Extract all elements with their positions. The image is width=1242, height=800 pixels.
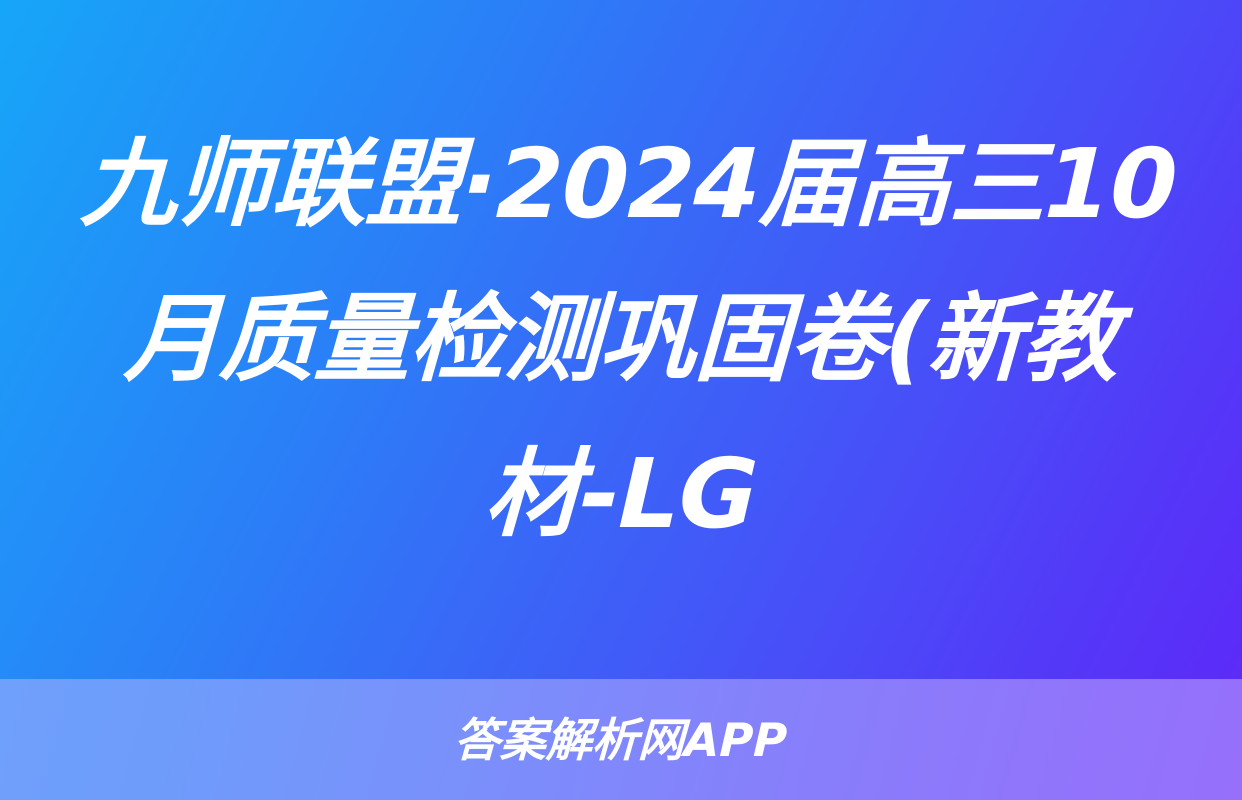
page-title: 九师联盟·2024届高三10 月质量检测巩固卷(新教 材-LG <box>81 107 1161 572</box>
title-line-3: 材-LG <box>78 417 1163 572</box>
hero-content: 九师联盟·2024届高三10 月质量检测巩固卷(新教 材-LG <box>0 0 1242 679</box>
title-line-2: 月质量检测巩固卷(新教 <box>78 262 1163 417</box>
title-line-1: 九师联盟·2024届高三10 <box>78 107 1163 262</box>
banner-root: 九师联盟·2024届高三10 月质量检测巩固卷(新教 材-LG 答案解析网APP <box>0 0 1242 800</box>
footer-watermark-bar: 答案解析网APP <box>0 679 1242 800</box>
watermark-text: 答案解析网APP <box>454 717 789 763</box>
